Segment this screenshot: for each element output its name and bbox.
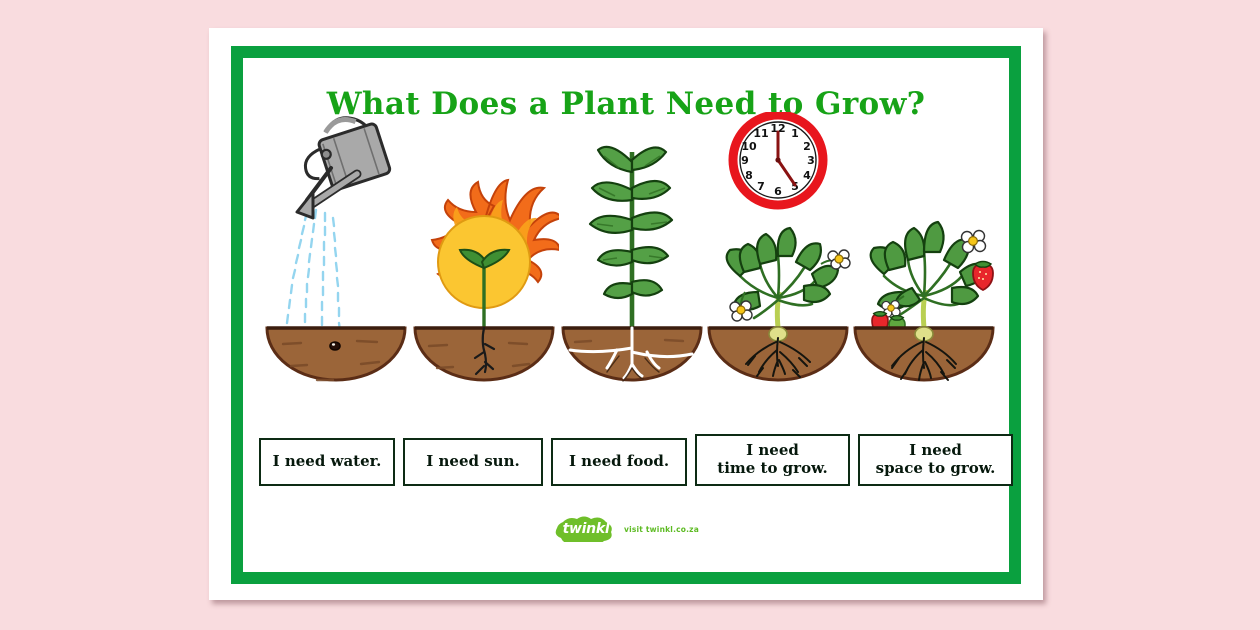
illustration-sun [409, 112, 559, 412]
svg-text:11: 11 [753, 127, 768, 140]
svg-text:1: 1 [791, 127, 799, 140]
label-text-block: I need time to grow. [717, 442, 827, 477]
label-time[interactable]: I need time to grow. [695, 434, 850, 486]
poster-page: What Does a Plant Need to Grow? [209, 28, 1043, 600]
flower-icon [962, 231, 986, 253]
twinkl-logo[interactable]: twinkl visit twinkl.co.za [243, 516, 1009, 542]
label-text-block: I need space to grow. [876, 442, 996, 477]
svg-text:4: 4 [803, 169, 811, 182]
sun-icon [409, 112, 559, 412]
label-food[interactable]: I need food. [551, 438, 687, 486]
svg-text:9: 9 [741, 154, 749, 167]
twinkl-logo-mark: twinkl [553, 516, 619, 542]
seed-icon [330, 342, 340, 350]
strawberry-icon [973, 262, 993, 291]
label-water[interactable]: I need water. [259, 438, 395, 486]
illustration-time: 12 1 2 3 4 5 6 7 8 9 10 [703, 112, 853, 412]
poster-canvas: What Does a Plant Need to Grow? [0, 0, 1260, 630]
label-text: I need water. [273, 453, 382, 471]
twinkl-url: visit twinkl.co.za [624, 525, 699, 534]
label-text: I need food. [569, 453, 669, 471]
illustration-water [261, 112, 411, 412]
illustration-space [849, 112, 999, 412]
label-space[interactable]: I need space to grow. [858, 434, 1013, 486]
label-line-1: I need [909, 441, 962, 459]
label-sun[interactable]: I need sun. [403, 438, 543, 486]
poster-content: What Does a Plant Need to Grow? [243, 58, 1009, 572]
svg-text:8: 8 [745, 169, 753, 182]
svg-text:3: 3 [807, 154, 815, 167]
strawberry-plant-icon [849, 112, 999, 412]
svg-text:2: 2 [803, 140, 811, 153]
poster-green-border: What Does a Plant Need to Grow? [231, 46, 1021, 584]
svg-text:6: 6 [774, 185, 782, 198]
leafy-plant-icon [557, 112, 707, 412]
label-line-2: time to grow. [717, 459, 827, 477]
illustration-food [557, 112, 707, 412]
svg-text:10: 10 [741, 140, 757, 153]
svg-text:7: 7 [757, 180, 765, 193]
label-line-2: space to grow. [876, 459, 996, 477]
clock-icon: 12 1 2 3 4 5 6 7 8 9 10 [733, 115, 823, 205]
twinkl-wordmark: twinkl [553, 516, 619, 542]
label-line-1: I need [746, 441, 799, 459]
strawberry-flowering-plant-icon: 12 1 2 3 4 5 6 7 8 9 10 [703, 112, 853, 412]
watering-can-icon [261, 112, 411, 412]
label-text: I need sun. [426, 453, 519, 471]
